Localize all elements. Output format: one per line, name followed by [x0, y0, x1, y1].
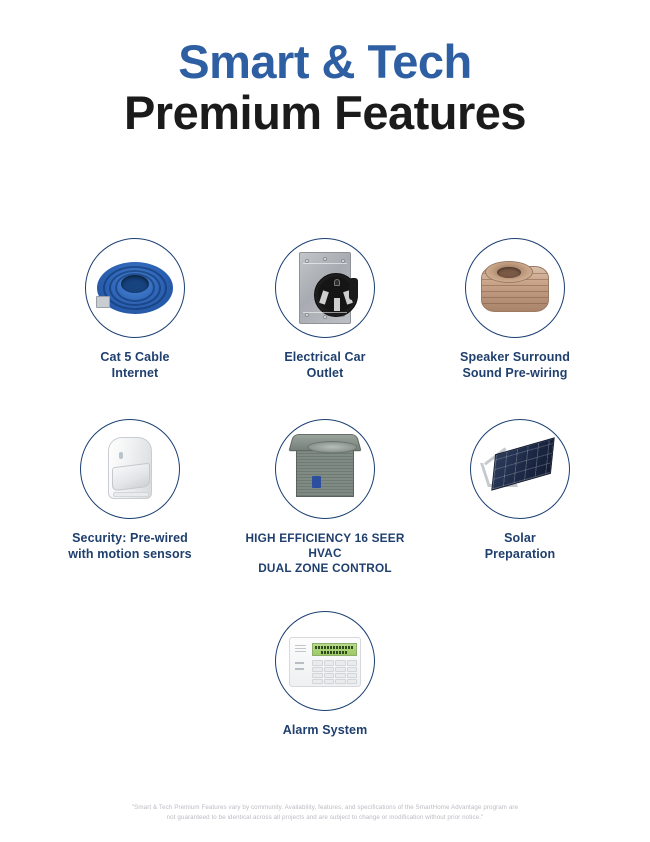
footer-disclaimer: "Smart & Tech Premium Features vary by c…: [75, 803, 575, 822]
caption-line-2: Preparation: [485, 547, 556, 563]
feature-hvac-dual-zone[interactable]: HIGH EFFICIENCY 16 SEER HVAC DUAL ZONE C…: [225, 419, 425, 575]
feature-alarm-system[interactable]: Alarm System: [230, 611, 420, 739]
ethernet-cable-coil-icon: [95, 248, 175, 328]
feature-icon-circle: [275, 611, 375, 711]
feature-caption: Solar Preparation: [485, 531, 556, 562]
feature-security-motion-sensors[interactable]: Security: Pre-wired with motion sensors: [35, 419, 225, 575]
features-row-2: Security: Pre-wired with motion sensors …: [0, 419, 650, 575]
caption-line-1: Alarm System: [283, 723, 368, 739]
caption-line-2: Sound Pre-wiring: [460, 366, 570, 382]
feature-sheet-page: Smart & Tech Premium Features: [0, 0, 650, 842]
title-line-subject: Premium Features: [0, 88, 650, 137]
caption-line-1: Cat 5 Cable: [100, 350, 169, 366]
caption-line-1: Speaker Surround: [460, 350, 570, 366]
feature-icon-circle: [470, 419, 570, 519]
footer-line-1: "Smart & Tech Premium Features vary by c…: [75, 803, 575, 813]
title-line-brand: Smart & Tech: [0, 38, 650, 86]
caption-line-2: with motion sensors: [68, 547, 191, 563]
feature-caption: Cat 5 Cable Internet: [100, 350, 169, 381]
footer-line-2: not guaranteed to be identical across al…: [75, 813, 575, 823]
feature-icon-circle: [80, 419, 180, 519]
features-row-3: Alarm System: [0, 611, 650, 739]
feature-caption: Electrical Car Outlet: [284, 350, 365, 381]
caption-line-3: DUAL ZONE CONTROL: [245, 561, 404, 576]
alarm-keypad-icon: [285, 621, 365, 701]
feature-icon-circle: [275, 419, 375, 519]
feature-caption: Security: Pre-wired with motion sensors: [68, 531, 191, 562]
feature-icon-circle: [465, 238, 565, 338]
hvac-condenser-icon: [285, 429, 365, 509]
caption-line-2: Internet: [100, 366, 169, 382]
feature-electrical-car-outlet[interactable]: Electrical Car Outlet: [230, 238, 420, 381]
feature-caption: Alarm System: [283, 723, 368, 739]
feature-caption: HIGH EFFICIENCY 16 SEER HVAC DUAL ZONE C…: [245, 531, 404, 575]
feature-cat5-cable[interactable]: Cat 5 Cable Internet: [40, 238, 230, 381]
feature-caption: Speaker Surround Sound Pre-wiring: [460, 350, 570, 381]
feature-speaker-prewiring[interactable]: Speaker Surround Sound Pre-wiring: [420, 238, 610, 381]
caption-line-2: Outlet: [284, 366, 365, 382]
page-title: Smart & Tech Premium Features: [0, 38, 650, 137]
caption-line-1: HIGH EFFICIENCY 16 SEER: [245, 531, 404, 546]
electrical-outlet-icon: [285, 248, 365, 328]
caption-line-1: Security: Pre-wired: [68, 531, 191, 547]
features-row-1: Cat 5 Cable Internet: [0, 238, 650, 381]
feature-icon-circle: [275, 238, 375, 338]
caption-line-1: Solar: [485, 531, 556, 547]
caption-line-2: HVAC: [245, 546, 404, 561]
feature-solar-preparation[interactable]: Solar Preparation: [425, 419, 615, 575]
solar-panel-icon: [480, 429, 560, 509]
speaker-wire-coil-icon: [475, 248, 555, 328]
motion-sensor-icon: [90, 429, 170, 509]
feature-icon-circle: [85, 238, 185, 338]
caption-line-1: Electrical Car: [284, 350, 365, 366]
features-grid: Cat 5 Cable Internet: [0, 238, 650, 739]
